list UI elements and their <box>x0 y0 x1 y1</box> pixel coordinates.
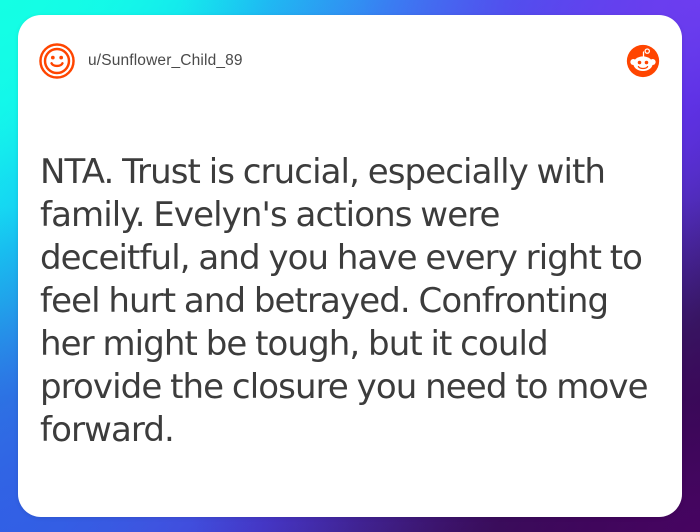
smiley-face-icon[interactable] <box>38 42 76 80</box>
author-username: u/Sunflower_Child_89 <box>88 52 243 70</box>
comment-header: u/Sunflower_Child_89 <box>18 15 682 107</box>
comment-body: NTA. Trust is crucial, especially with f… <box>40 151 652 452</box>
reddit-comment-card: u/Sunflower_Child_89 NTA. Trust is <box>18 15 682 517</box>
comment-text: NTA. Trust is crucial, especially with f… <box>40 151 652 452</box>
author-block[interactable]: u/Sunflower_Child_89 <box>38 42 626 80</box>
screenshot-root: u/Sunflower_Child_89 NTA. Trust is <box>0 0 700 532</box>
reddit-snoo-icon[interactable] <box>626 44 660 78</box>
